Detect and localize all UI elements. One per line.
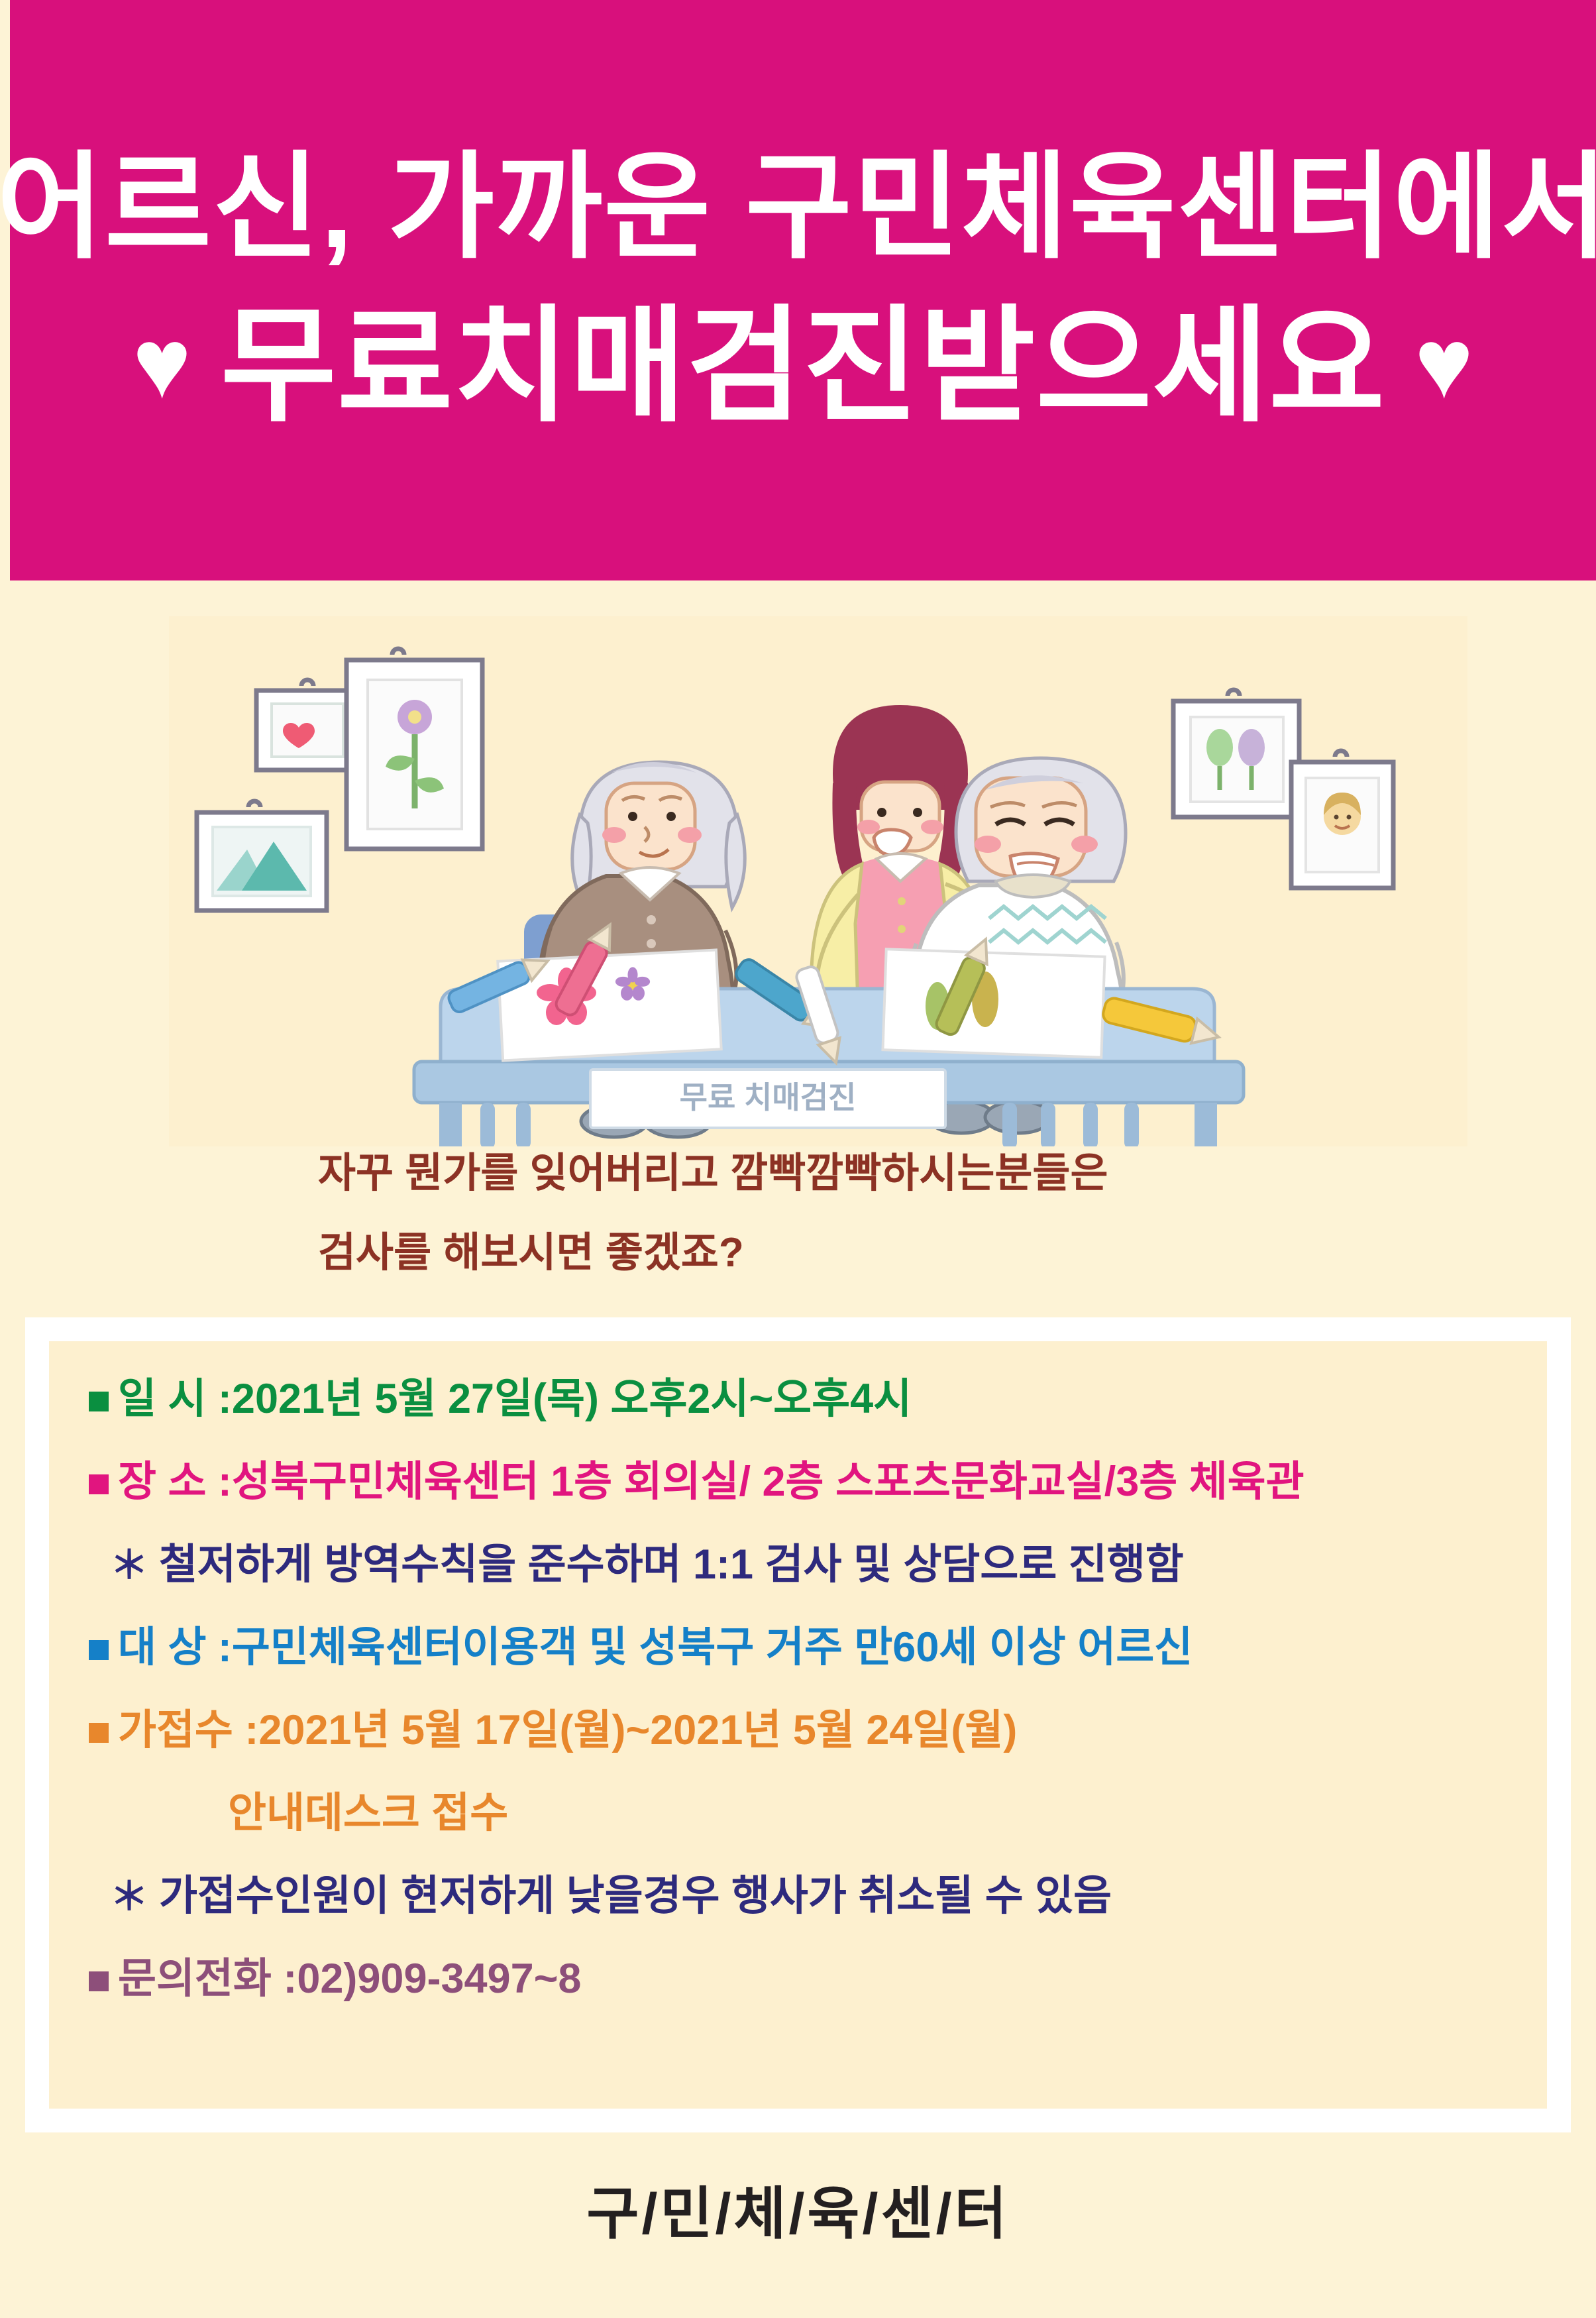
subtitle-line-1: 자꾸 뭔가를 잊어버리고 깜빡깜빡하시는분들은 (318, 1153, 1444, 1194)
info-row-place: 장 소 : 성북구민체육센터 1층 회의실/ 2층 스포츠문화교실/3층 체육관 (89, 1461, 1507, 1503)
info-panel: 일 시 : 2021년 5월 27일(목) 오후2시~오후4시 장 소 : 성북… (49, 1341, 1547, 2109)
info-value-registration: 2021년 5월 17일(월)~2021년 5월 24일(월) (258, 1710, 1017, 1751)
header-band: 어르신, 가까운 구민체육센터에서 ♥ 무료치매검진받으세요 ♥ (10, 0, 1596, 580)
info-value-phone: 02)909-3497~8 (297, 1958, 581, 2000)
info-label-phone: 문의전화 : (118, 1958, 297, 2000)
info-row-note-cancel: ＊ 가접수인원이 현저하게 낮을경우 행사가 취소될 수 있음 (89, 1875, 1507, 1917)
asterisk-icon: ＊ (110, 1547, 148, 1585)
poster-title-line-2: 무료치매검진받으세요 (221, 301, 1385, 433)
info-row-datetime: 일 시 : 2021년 5월 27일(목) 오후2시~오후4시 (89, 1378, 1507, 1420)
wall-frame-mountain (197, 801, 327, 911)
info-row-phone: 문의전화 : 02)909-3497~8 (89, 1958, 1507, 2000)
wall-frame-heart (256, 680, 358, 770)
bullet-square-icon (89, 1723, 109, 1743)
info-value-note-cancel: 가접수인원이 현저하게 낮을경우 행사가 취소될 수 있음 (159, 1875, 1112, 1917)
bullet-square-icon (89, 1971, 109, 1991)
info-label-target: 대 상 : (118, 1627, 232, 1669)
info-row-target: 대 상 : 구민체육센터이용객 및 성북구 거주 만60세 이상 어르신 (89, 1627, 1507, 1669)
bullet-square-icon (89, 1640, 109, 1660)
bullet-square-icon (89, 1392, 109, 1411)
wall-frame-portrait (1291, 751, 1393, 888)
illustration-seniors-at-table: 무료 치매검진 (169, 616, 1467, 1146)
info-value-target: 구민체육센터이용객 및 성북구 거주 만60세 이상 어르신 (232, 1627, 1193, 1669)
bullet-square-icon (89, 1474, 109, 1494)
info-value-note-distancing: 철저하게 방역수칙을 준수하며 1:1 검사 및 상담으로 진행함 (159, 1544, 1184, 1586)
heart-icon-left: ♥ (133, 313, 191, 413)
info-frame: 일 시 : 2021년 5월 27일(목) 오후2시~오후4시 장 소 : 성북… (25, 1317, 1571, 2132)
poster-root: 어르신, 가까운 구민체육센터에서 ♥ 무료치매검진받으세요 ♥ (0, 0, 1596, 2318)
info-label-place: 장 소 : (118, 1461, 232, 1503)
info-value-place: 성북구민체육센터 1층 회의실/ 2층 스포츠문화교실/3층 체육관 (232, 1461, 1304, 1503)
subtitle-line-2: 검사를 해보시면 좋겠죠? (318, 1233, 1444, 1274)
poster-title-line-1: 어르신, 가까운 구민체육센터에서 (0, 147, 1596, 269)
info-value-registration-desk: 안내데스크 접수 (228, 1793, 508, 1834)
info-label-datetime: 일 시 : (118, 1378, 232, 1420)
illustration-svg: 무료 치매검진 (169, 616, 1467, 1146)
info-row-registration-desk: 안내데스크 접수 (89, 1793, 1507, 1834)
info-row-note-distancing: ＊ 철저하게 방역수칙을 준수하며 1:1 검사 및 상담으로 진행함 (89, 1544, 1507, 1586)
info-value-datetime: 2021년 5월 27일(목) 오후2시~오후4시 (232, 1378, 912, 1420)
info-row-registration: 가접수 : 2021년 5월 17일(월)~2021년 5월 24일(월) (89, 1710, 1507, 1751)
table-sign-text: 무료 치매검진 (680, 1080, 857, 1115)
subtitle-block: 자꾸 뭔가를 잊어버리고 깜빡깜빡하시는분들은 검사를 해보시면 좋겠죠? (318, 1153, 1444, 1312)
asterisk-icon: ＊ (110, 1878, 148, 1916)
heart-icon-right: ♥ (1414, 313, 1473, 413)
footer-organization: 구/민/체/육/센/터 (0, 2167, 1596, 2250)
poster-title-line-2-row: ♥ 무료치매검진받으세요 ♥ (133, 301, 1473, 433)
info-label-registration: 가접수 : (118, 1710, 258, 1751)
wall-frame-flower (346, 649, 482, 849)
wall-frame-leaves (1173, 690, 1299, 817)
